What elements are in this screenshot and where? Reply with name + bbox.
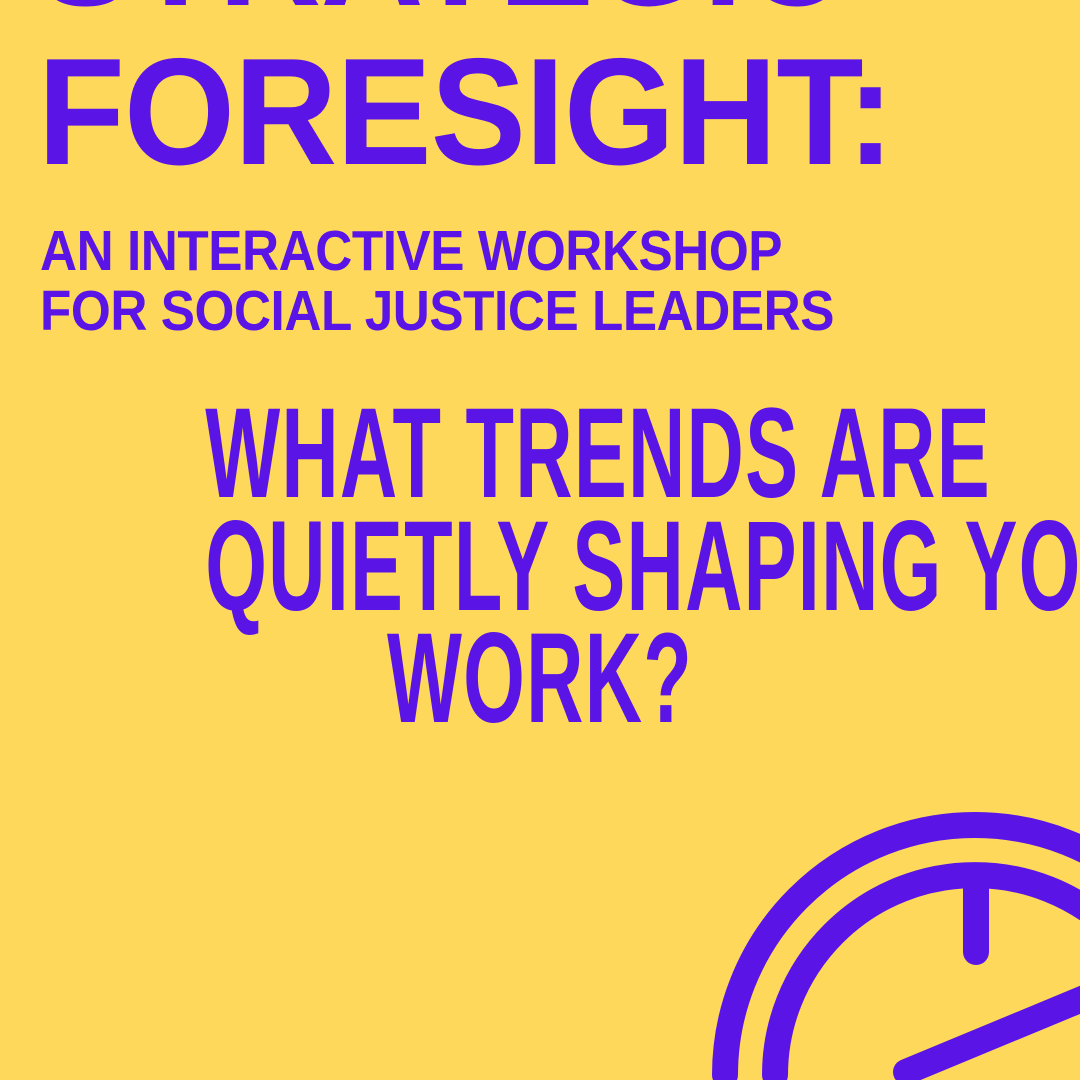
compass-gauge-svg: [620, 790, 1080, 1080]
question-block: WHAT TRENDS ARE QUIETLY SHAPING YOUR WOR…: [0, 398, 1080, 736]
subtitle-line-1: AN INTERACTIVE WORKSHOP: [40, 222, 940, 282]
compass-inner-ring: [775, 875, 1080, 1075]
page-title-line-2: FORESIGHT:: [0, 41, 1015, 184]
compass-gauge-icon: [620, 790, 1080, 1080]
compass-needle: [906, 975, 1080, 1072]
subtitle-line-2: FOR SOCIAL JUSTICE LEADERS: [40, 282, 940, 342]
title-line-2-wrap: FORESIGHT:: [0, 41, 1080, 184]
page-title-line-1: STRATEGIC: [0, 0, 1015, 25]
subtitle-block: AN INTERACTIVE WORKSHOP FOR SOCIAL JUSTI…: [40, 222, 1040, 342]
poster-canvas: STRATEGIC FORESIGHT: AN INTERACTIVE WORK…: [0, 0, 1080, 1080]
question-line-3: WORK?: [205, 623, 875, 736]
title-line-1-wrap: STRATEGIC: [0, 0, 1080, 25]
compass-outer-ring: [725, 825, 1080, 1075]
